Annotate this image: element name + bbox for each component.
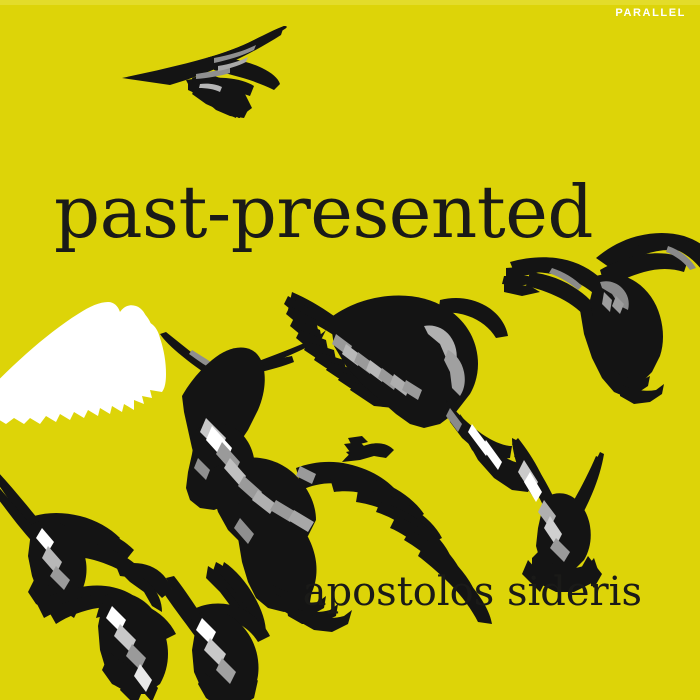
album-cover: PARALLEL past-presented apostolos sideri…	[0, 0, 700, 700]
label-parallel: PARALLEL	[615, 8, 686, 19]
bird-top-gliding-icon	[122, 26, 287, 118]
bird-center-large-diving-icon	[284, 292, 534, 492]
bird-white-spread-icon	[0, 302, 166, 424]
page-title: past-presented	[54, 176, 593, 248]
bird-right-large-spread-icon	[502, 233, 700, 404]
artist-name: apostolos sideris	[303, 572, 642, 612]
